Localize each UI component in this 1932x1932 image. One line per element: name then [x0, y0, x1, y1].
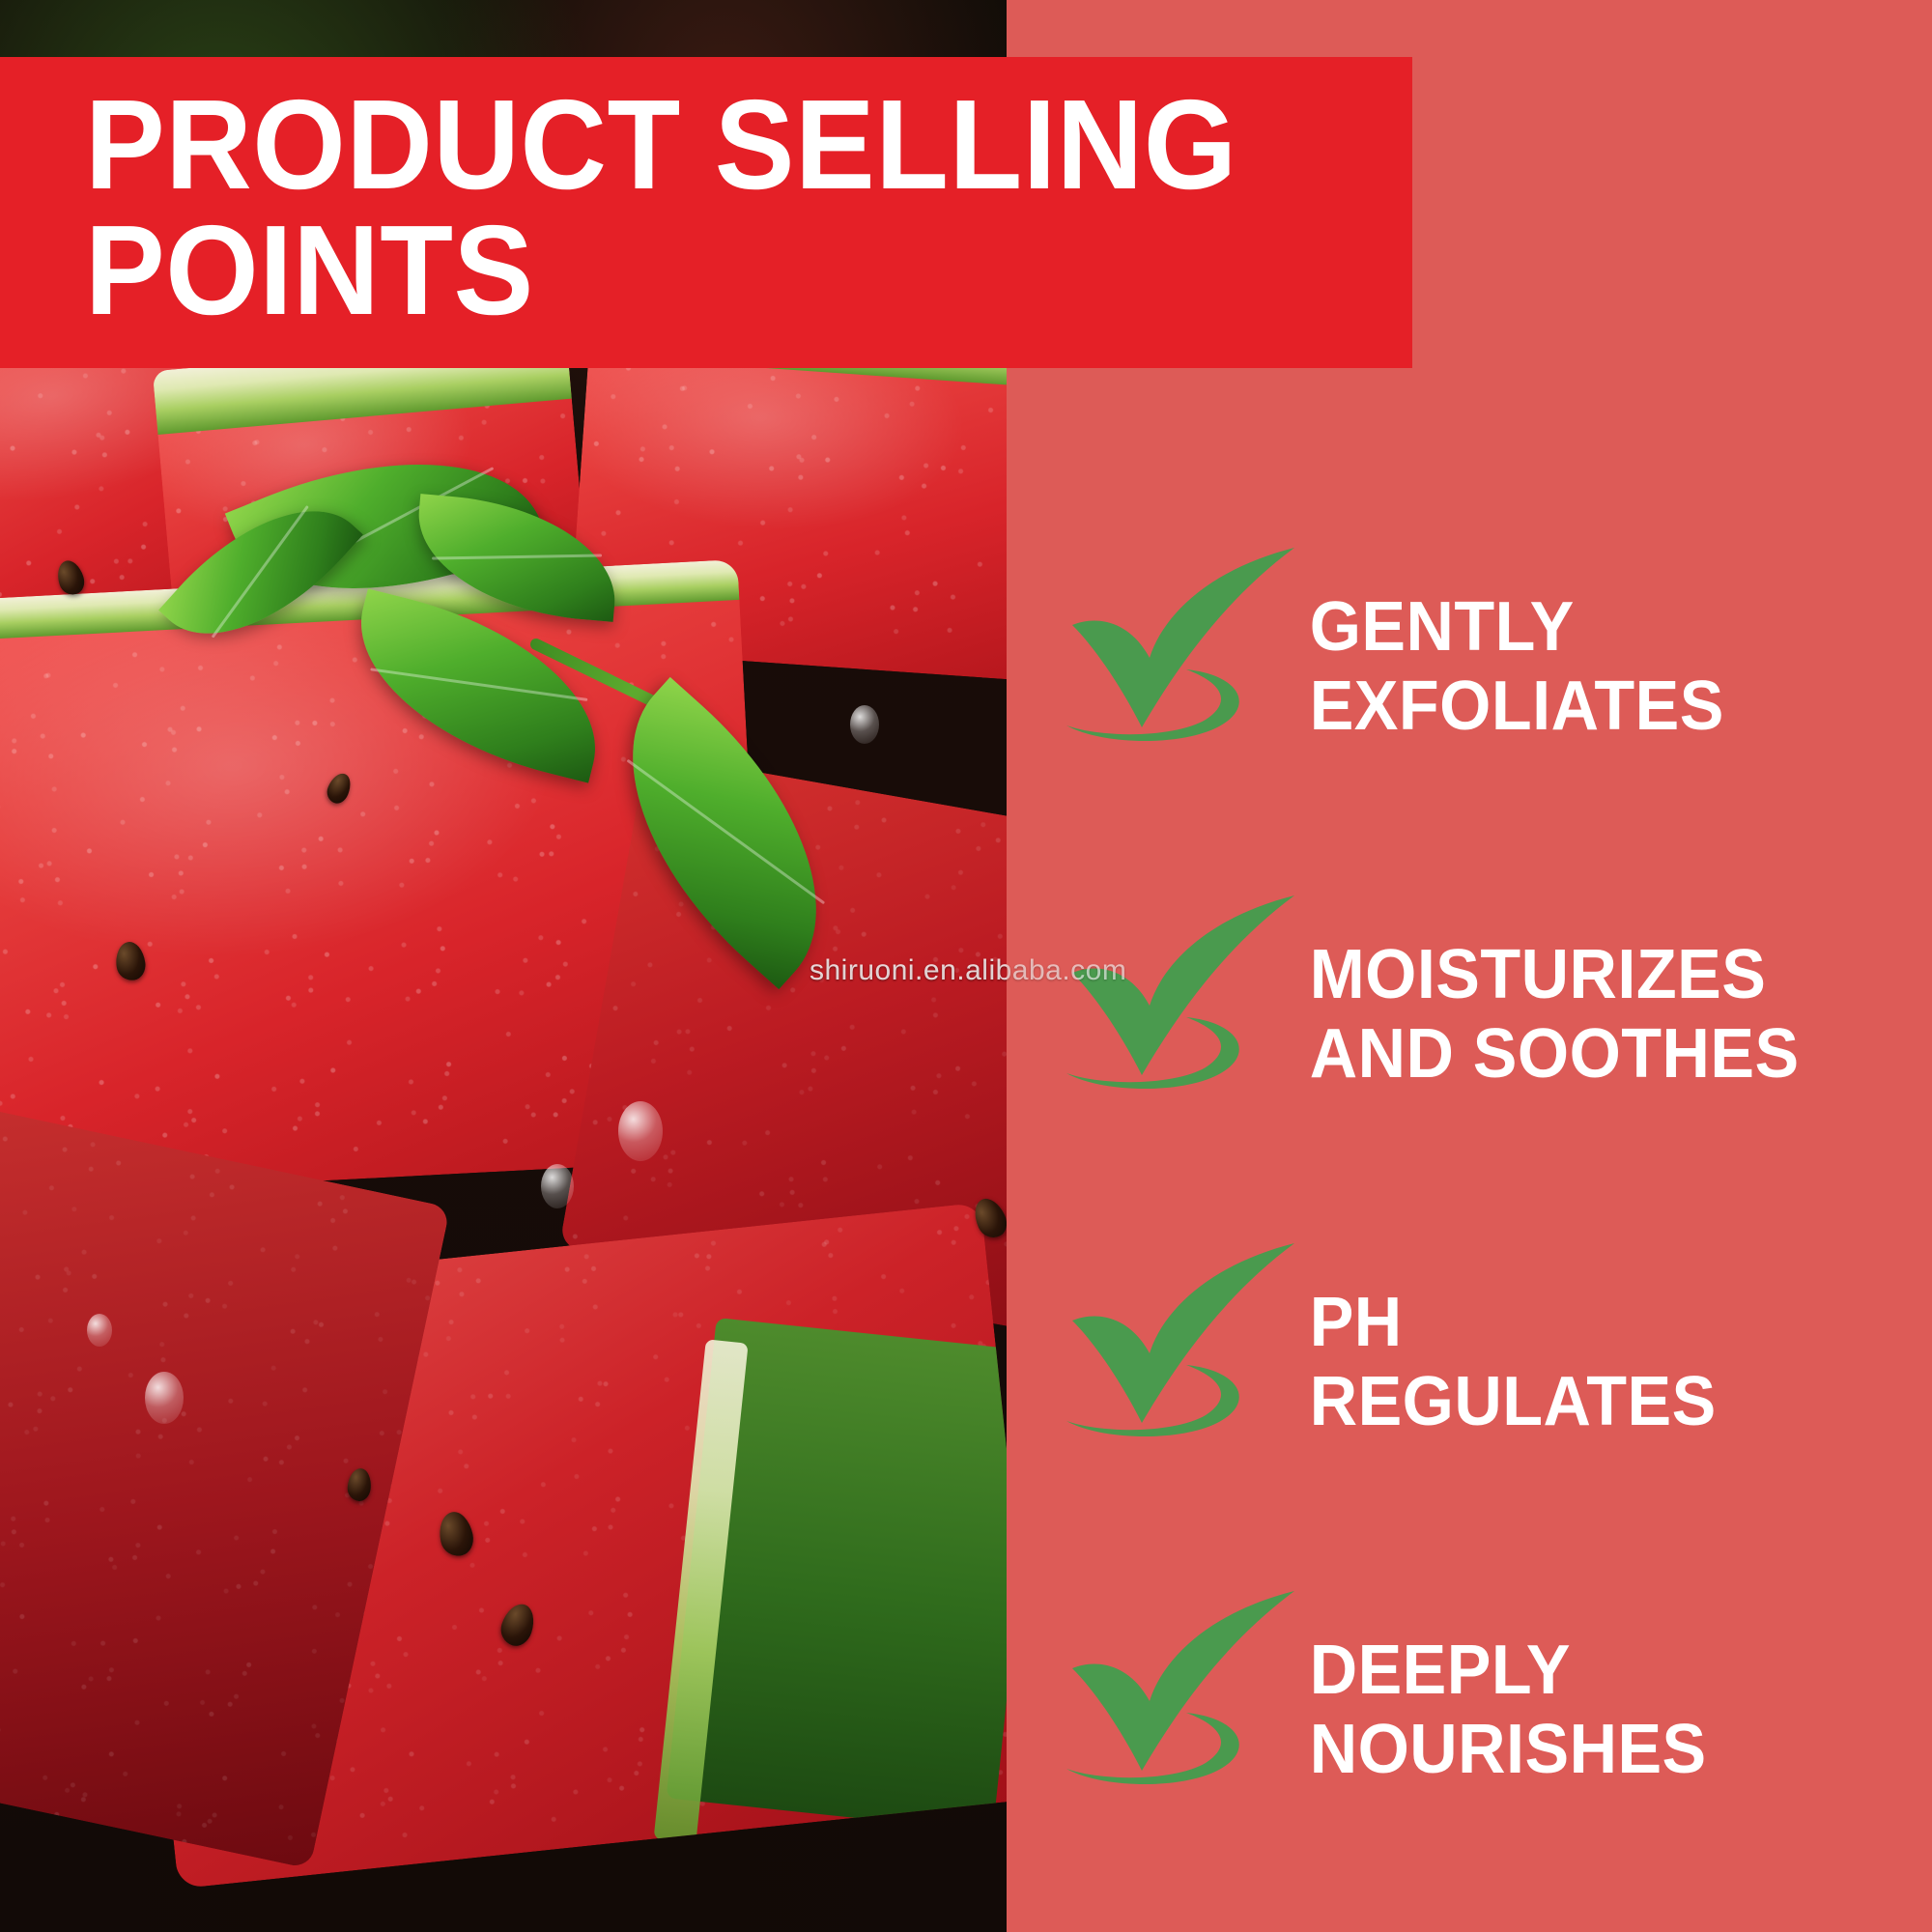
water-droplet [145, 1372, 184, 1424]
page-title-line-1: PRODUCT SELLING [85, 82, 1333, 208]
water-droplet [850, 705, 879, 744]
selling-points-list: GENTLY EXFOLIATES MOISTURIZES AND SOOTHE… [1072, 522, 1932, 1855]
selling-point-item: GENTLY EXFOLIATES [1072, 522, 1932, 811]
selling-point-label: MOISTURIZES AND SOOTHES [1304, 935, 1901, 1094]
check-swoosh-icon [1072, 1251, 1304, 1473]
check-swoosh-icon [1072, 903, 1304, 1125]
selling-point-label: GENTLY EXFOLIATES [1304, 587, 1901, 746]
check-swoosh-icon [1072, 555, 1304, 778]
selling-point-item: MOISTURIZES AND SOOTHES [1072, 869, 1932, 1159]
water-droplet [541, 1164, 574, 1208]
water-droplet [87, 1314, 112, 1347]
selling-point-item: DEEPLY NOURISHES [1072, 1565, 1932, 1855]
water-droplet [618, 1101, 663, 1161]
title-banner: PRODUCT SELLING POINTS [0, 57, 1412, 368]
page-title-line-2: POINTS [85, 208, 1333, 333]
product-selling-points-poster: shiruoni.en.alibaba.com shiruoni.en.alib… [0, 0, 1932, 1932]
check-swoosh-icon [1072, 1599, 1304, 1821]
selling-point-item: PH REGULATES [1072, 1217, 1932, 1507]
selling-point-label: PH REGULATES [1304, 1283, 1901, 1441]
selling-point-label: DEEPLY NOURISHES [1304, 1631, 1901, 1789]
